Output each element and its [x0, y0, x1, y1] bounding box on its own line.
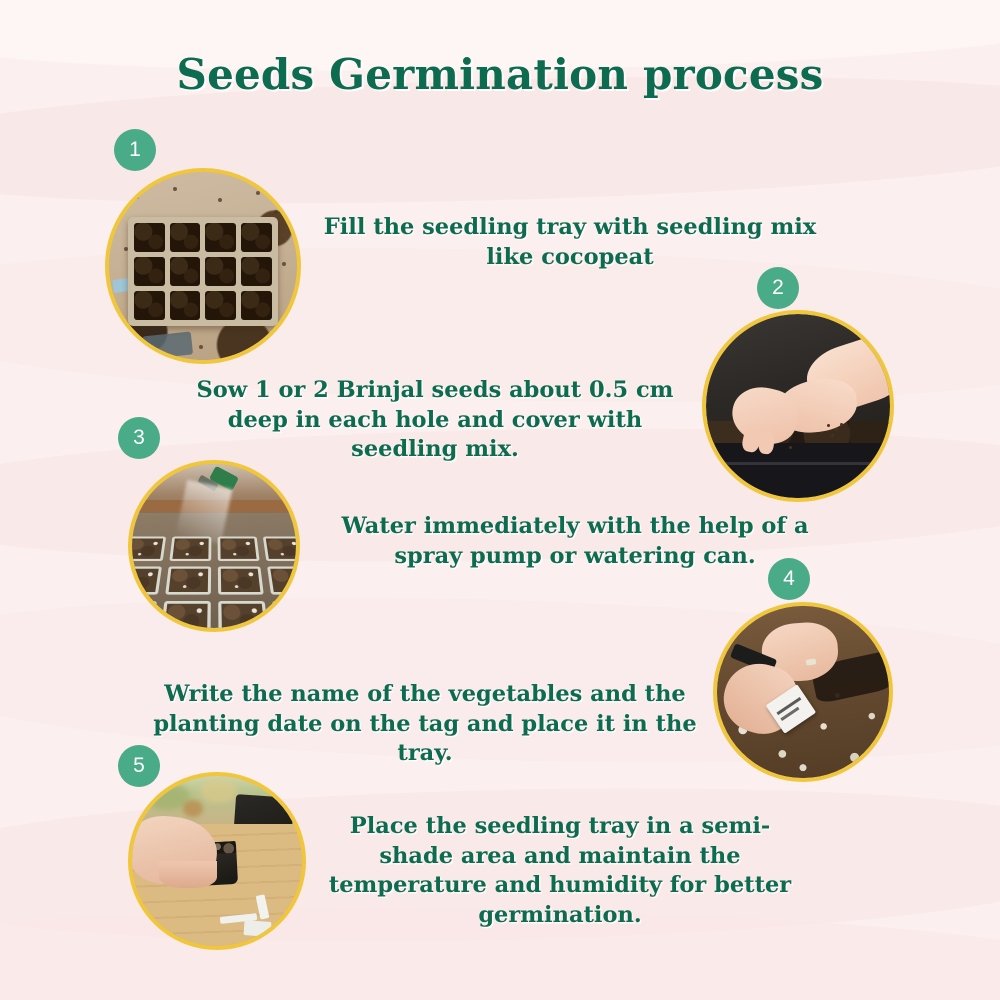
infographic-poster: Seeds Germination process 1 Fill the see… — [0, 0, 1000, 1000]
step-text-5: Place the seedling tray in a semi-shade … — [315, 812, 805, 931]
step-text-2: Sow 1 or 2 Brinjal seeds about 0.5 cm de… — [190, 376, 680, 465]
step-text-1: Fill the seedling tray with seedling mix… — [320, 213, 820, 272]
placing-seedling-pot-on-bench-photo — [132, 776, 302, 946]
step-image-5 — [128, 772, 306, 950]
step-badge-3: 3 — [118, 417, 160, 459]
seedling-tray-filled-with-cocopeat-photo — [109, 172, 297, 360]
step-image-4 — [713, 602, 893, 782]
step-image-1 — [105, 168, 301, 364]
writing-plant-tag-label-photo — [717, 606, 889, 778]
step-badge-2: 2 — [757, 267, 799, 309]
step-badge-4: 4 — [768, 558, 810, 600]
hands-sowing-seeds-into-tray-photo — [706, 314, 890, 498]
step-badge-1: 1 — [114, 129, 156, 171]
step-image-3 — [128, 460, 300, 632]
step-text-4: Write the name of the vegetables and the… — [150, 680, 700, 769]
spray-watering-seedling-tray-photo — [132, 464, 296, 628]
step-badge-5: 5 — [118, 745, 160, 787]
step-image-2 — [702, 310, 894, 502]
page-title: Seeds Germination process — [0, 50, 1000, 99]
step-text-3: Water immediately with the help of a spr… — [310, 512, 840, 571]
